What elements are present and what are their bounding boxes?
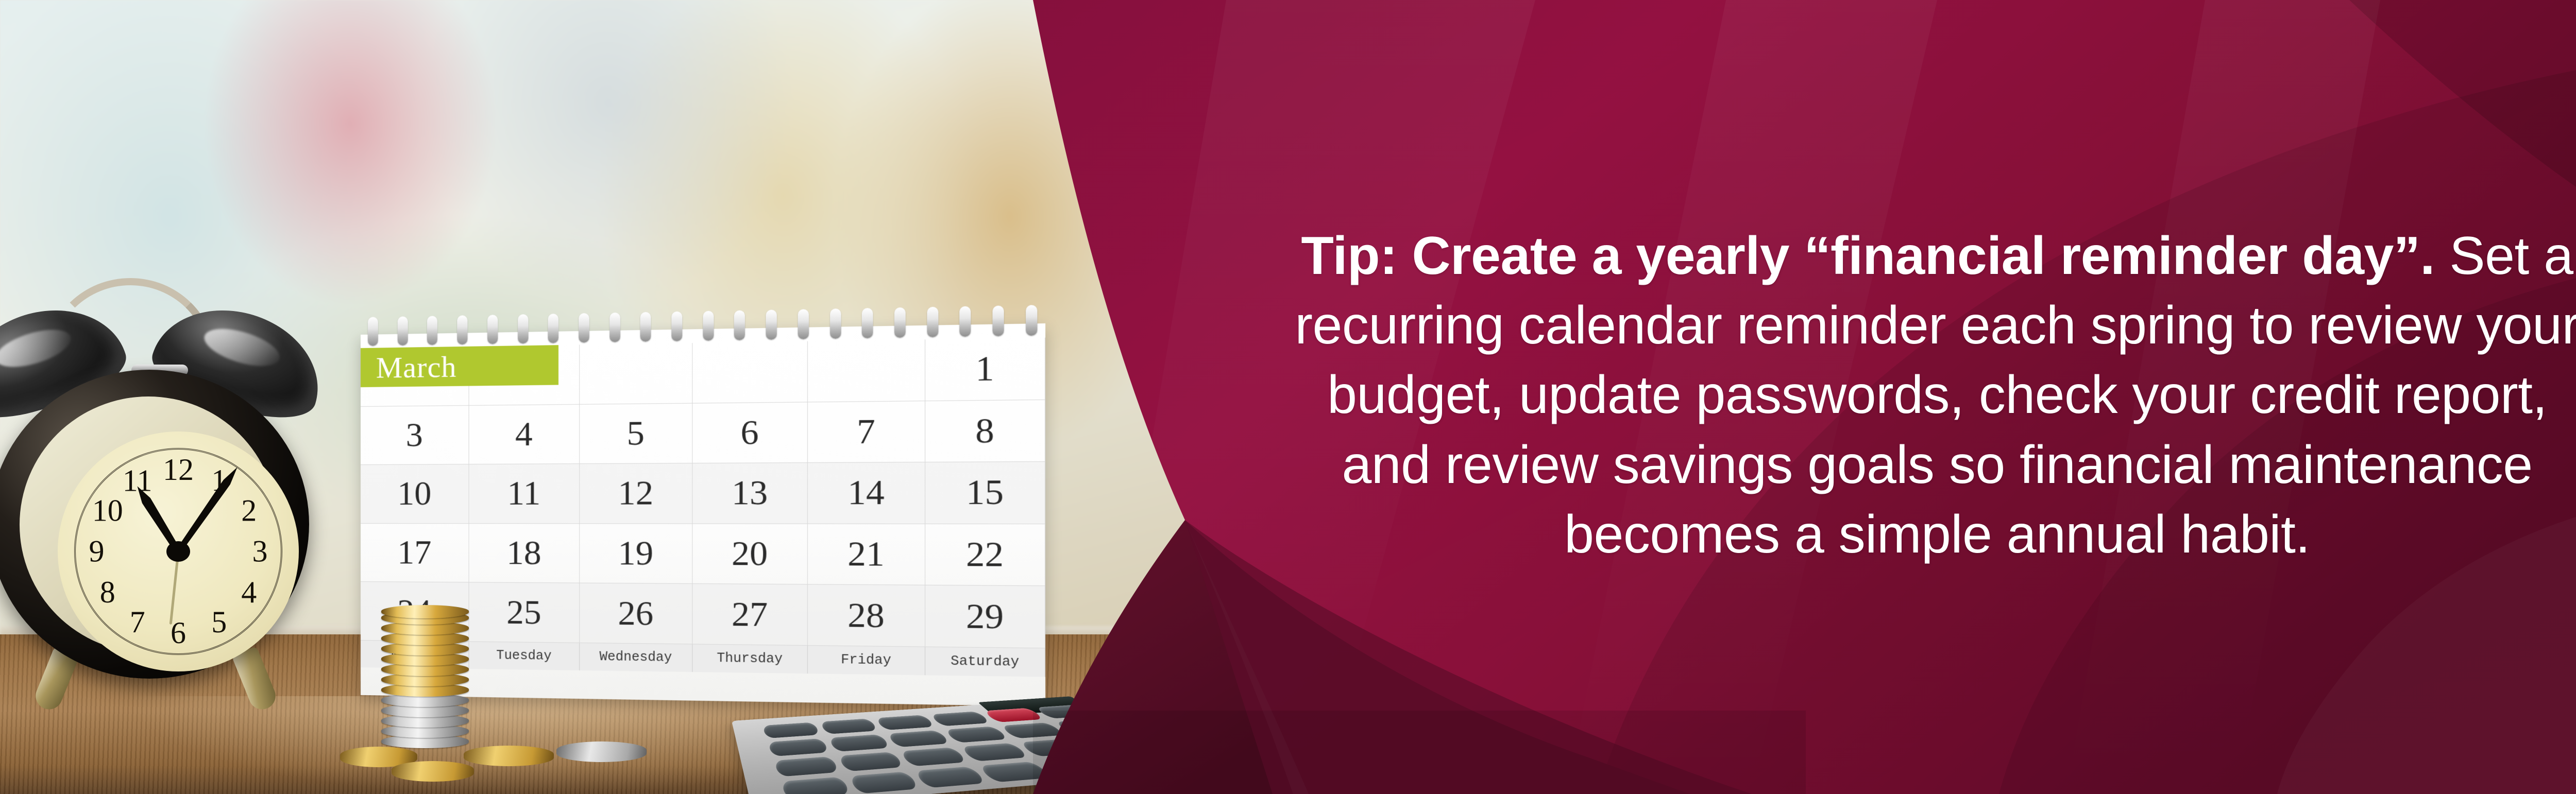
calendar-cell: 17 [361,524,469,583]
spiral-ring [579,313,589,342]
spiral-ring [766,309,777,339]
coin-stack [381,605,469,760]
calendar-month-banner: March [361,345,558,387]
calendar-cell [580,343,692,404]
clock-numeral: 9 [79,531,114,572]
clock-case: 12 1 2 3 4 5 6 7 8 9 10 11 [0,370,309,679]
spiral-ring [993,305,1004,336]
calendar-cell: 25 [469,583,580,643]
calculator-key [875,715,935,730]
tip-paragraph: Tip: Create a yearly “financial reminder… [1278,221,2576,569]
calendar-cell: 14 [808,462,925,524]
calendar-cell: 15 [925,462,1045,524]
calendar-cell: 8 [925,400,1045,462]
calculator-key [820,718,878,734]
calendar-cell: 29 [925,585,1045,648]
calendar-day-name: Tuesday [469,642,580,670]
calculator-key [1040,756,1115,777]
spiral-ring [518,314,528,343]
calculator-key [849,771,920,794]
calculator-key [1019,738,1089,756]
calendar-cell: 12 [580,463,692,524]
spiral-ring [548,314,559,343]
spiral-ring [703,311,714,341]
spiral-ring [640,312,651,342]
clock-numeral: 12 [158,452,199,488]
spiral-ring [798,309,808,339]
spiral-ring [862,308,873,338]
calculator-key [887,730,951,747]
clock-rim: 12 1 2 3 4 5 6 7 8 9 10 11 [20,396,277,653]
calendar-cell: 4 [469,404,580,464]
spiral-ring [960,306,971,337]
spiral-ring [894,307,906,338]
calendar-cell: 3 [361,406,469,465]
alarm-clock: 12 1 2 3 4 5 6 7 8 9 10 11 [0,309,345,669]
calculator-key [914,766,987,788]
tip-lead-text: Tip: Create a yearly “financial reminder… [1301,226,2434,286]
calculator-key [1055,719,1121,735]
calendar-cell: 11 [469,464,580,524]
calculator-key [960,743,1029,762]
spiral-ring [487,315,498,344]
spiral-ring [368,317,378,346]
spiral-ring [609,313,620,342]
calendar-cell: 26 [580,583,692,644]
spiral-ring [397,316,408,346]
calendar-day-name: Thursday [692,644,808,674]
tip-banner: 1 3 4 5 6 7 8 10 11 12 13 14 15 17 18 19… [0,0,2576,794]
calculator-key [768,738,829,756]
calendar-cell [808,339,925,402]
calendar-day-name: Wednesday [580,643,692,672]
calendar-cell: 28 [808,585,925,647]
calculator-key [944,726,1009,743]
calendar-cell: 22 [925,524,1045,586]
calendar-cell: 7 [808,401,925,463]
calendar-cell: 6 [692,402,808,463]
loose-coin [464,746,554,766]
calendar-month-label: March [361,349,457,385]
spiral-ring [457,315,467,344]
calendar-day-name: Saturday [925,647,1045,677]
calculator-key [1035,704,1097,719]
calendar-cell: 19 [580,524,692,584]
clock-center-cap [166,541,190,562]
calendar-cell [692,341,808,403]
calculator-key [978,762,1052,783]
clock-numeral: 6 [158,615,199,651]
photo-panel: 1 3 4 5 6 7 8 10 11 12 13 14 15 17 18 19… [0,0,1185,794]
calculator-key [1000,722,1065,739]
spiral-ring [927,307,938,337]
calculator-key [1100,752,1176,772]
calculator-key [838,752,904,772]
calendar-cell: 18 [469,524,580,583]
calendar-cell: 20 [692,524,808,584]
spiral-ring [671,312,682,341]
clock-face: 12 1 2 3 4 5 6 7 8 9 10 11 [58,431,299,671]
loose-coin [556,741,647,762]
spiral-ring [830,308,841,339]
tip-text-block: Tip: Create a yearly “financial reminder… [1278,9,2576,782]
spiral-ring [1026,305,1037,336]
calendar-cell: 21 [808,524,925,585]
calculator-key [828,734,891,752]
calculator-key [774,756,839,777]
calculator-key-clear [983,708,1044,722]
calendar-cell: 13 [692,463,808,524]
calculator-key [762,722,820,739]
calculator-key [900,747,968,766]
spiral-ring [427,316,437,345]
calendar-day-name: Friday [808,646,925,675]
calendar-cell: 5 [580,403,692,464]
loose-coin [392,761,474,782]
calculator-key [1076,734,1147,752]
calendar-cell: 10 [361,464,469,524]
calendar-cell: 27 [692,584,808,646]
calculator-key [930,711,990,726]
calculator-key [781,776,851,794]
calendar-cell: 1 [925,338,1045,401]
clock-numeral: 3 [242,531,278,572]
spiral-ring [734,310,745,340]
